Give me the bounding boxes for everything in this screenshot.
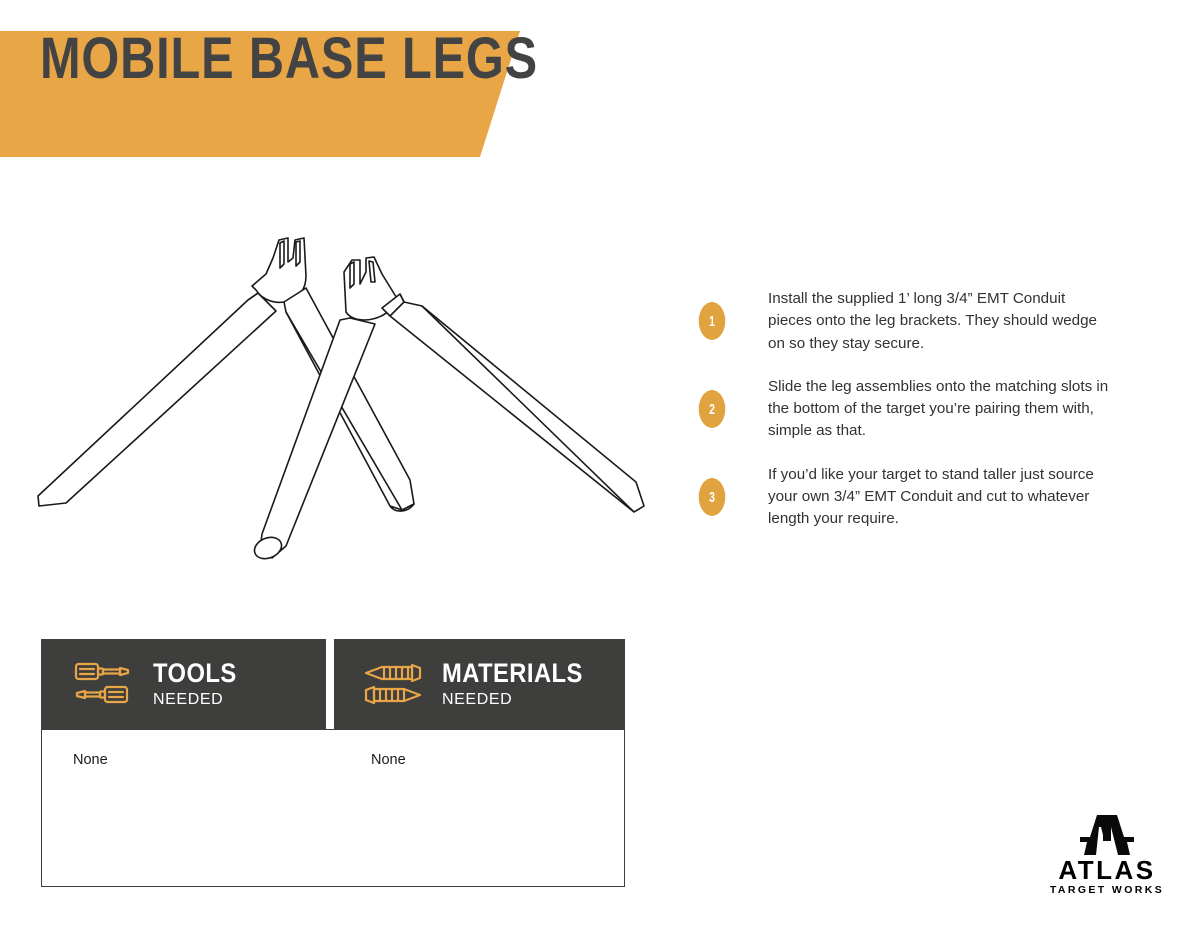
tools-subtitle: NEEDED: [153, 692, 248, 708]
materials-title: MATERIALS: [442, 660, 583, 687]
materials-needed-labels: MATERIALS NEEDED: [442, 660, 602, 708]
materials-subtitle: NEEDED: [442, 692, 602, 708]
tools-needed-value: None: [73, 752, 108, 768]
needed-content-box: None None: [41, 729, 625, 887]
step-number-badge: 1: [699, 302, 726, 340]
step-row: 1 Install the supplied 1’ long 3/4” EMT …: [693, 288, 1113, 355]
step-text: If you’d like your target to stand talle…: [768, 464, 1113, 531]
step-text: Install the supplied 1’ long 3/4” EMT Co…: [768, 288, 1113, 355]
step-number-badge: 2: [699, 390, 726, 428]
tools-materials-panel: TOOLS NEEDED: [41, 639, 625, 887]
steps-list: 1 Install the supplied 1’ long 3/4” EMT …: [693, 288, 1113, 552]
atlas-a-logo-icon: [1080, 815, 1134, 855]
tools-needed-header: TOOLS NEEDED: [41, 639, 326, 729]
tools-needed-labels: TOOLS NEEDED: [153, 660, 248, 708]
brand-tagline: TARGET WORKS: [1043, 884, 1171, 897]
product-illustration: [30, 228, 655, 573]
header-divider-gap: [326, 639, 334, 729]
materials-needed-header: MATERIALS NEEDED: [334, 639, 625, 729]
step-row: 2 Slide the leg assemblies onto the matc…: [693, 376, 1113, 443]
step-row: 3 If you’d like your target to stand tal…: [693, 464, 1113, 531]
step-number-badge: 3: [699, 478, 726, 516]
materials-needed-value: None: [371, 752, 406, 768]
page-title: MOBILE BASE LEGS: [40, 28, 538, 90]
brand-name: ATLAS: [1043, 857, 1171, 883]
needed-headers: TOOLS NEEDED: [41, 639, 625, 729]
brand-logo: ATLAS TARGET WORKS: [1043, 815, 1171, 893]
screws-icon: [362, 659, 424, 709]
tools-title: TOOLS: [153, 660, 237, 687]
screwdrivers-icon: [73, 659, 135, 709]
step-text: Slide the leg assemblies onto the matchi…: [768, 376, 1113, 443]
